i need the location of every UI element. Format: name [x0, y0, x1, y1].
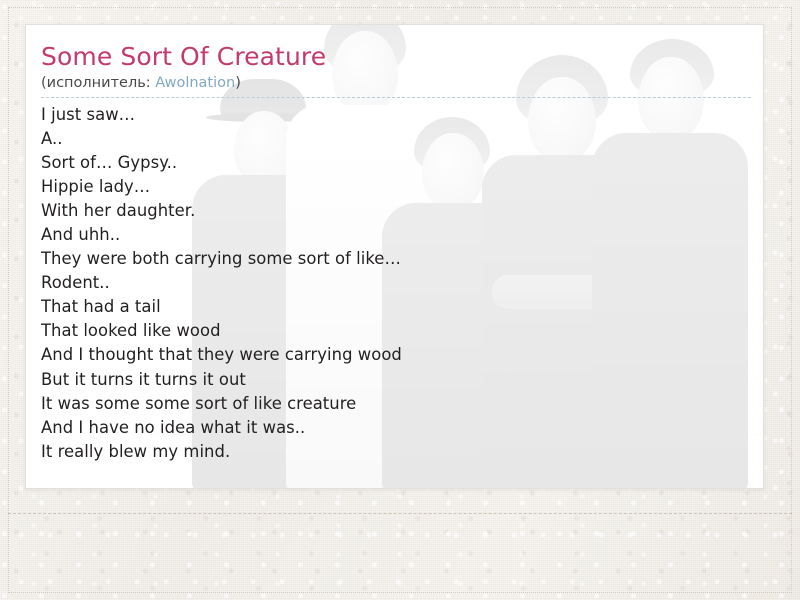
lyric-line: And I thought that they were carrying wo… — [41, 343, 751, 367]
lyric-line: It was some some sort of like creature — [41, 392, 751, 416]
lyrics-block: I just saw… A.. Sort of… Gypsy.. Hippie … — [41, 103, 751, 464]
content-panel: Some Sort Of Creature (исполнитель: Awol… — [25, 24, 764, 489]
slide-text-layer: Some Sort Of Creature (исполнитель: Awol… — [26, 25, 764, 489]
lyric-line: And uhh.. — [41, 223, 751, 247]
artist-link[interactable]: Awolnation — [155, 75, 235, 91]
lyric-line: That had a tail — [41, 295, 751, 319]
artist-label-prefix: (исполнитель: — [41, 75, 155, 91]
slide-page: Some Sort Of Creature (исполнитель: Awol… — [0, 0, 800, 600]
lyric-line: Hippie lady… — [41, 175, 751, 199]
lyric-line: They were both carrying some sort of lik… — [41, 247, 751, 271]
lyric-line: I just saw… — [41, 103, 751, 127]
lyric-line: Sort of… Gypsy.. — [41, 151, 751, 175]
lyric-line: A.. — [41, 127, 751, 151]
lyric-line: But it turns it turns it out — [41, 368, 751, 392]
lyric-line: Rodent.. — [41, 271, 751, 295]
lyric-line: That looked like wood — [41, 319, 751, 343]
page-title: Some Sort Of Creature — [41, 42, 326, 71]
artist-label-suffix: ) — [235, 75, 241, 91]
lyric-line: With her daughter. — [41, 199, 751, 223]
lyric-line: And I have no idea what it was.. — [41, 416, 751, 440]
artist-line: (исполнитель: Awolnation) — [41, 75, 241, 91]
lyric-line: It really blew my mind. — [41, 440, 751, 464]
bottom-dashed-divider — [8, 513, 792, 514]
header-dashed-divider — [41, 97, 751, 98]
